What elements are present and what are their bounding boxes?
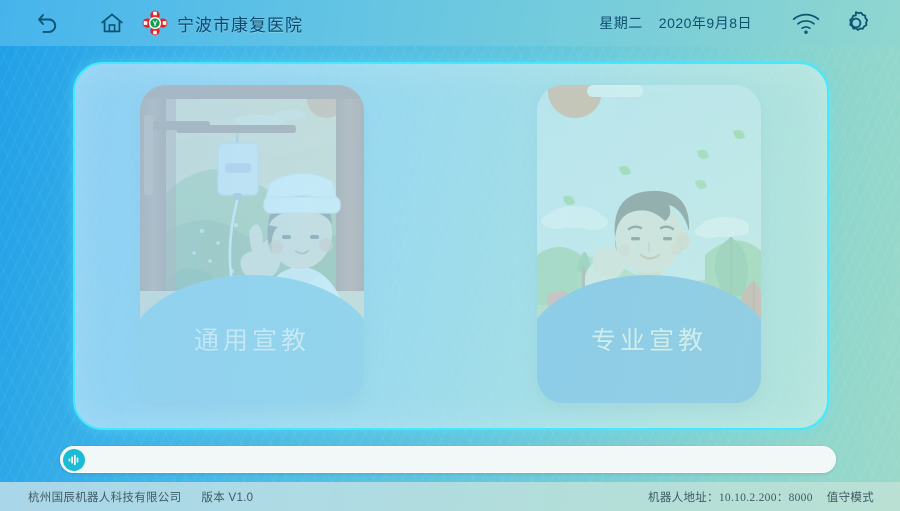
- status-bar-right: 机器人地址：10.10.2.200：8000 值守模式: [648, 489, 900, 505]
- robot-mode: 值守模式: [827, 489, 874, 505]
- hospital-logo-icon: [142, 10, 168, 36]
- settings-button[interactable]: [836, 3, 876, 43]
- voice-waveform-button[interactable]: [63, 449, 85, 471]
- company-name: 杭州国辰机器人科技有限公司: [28, 489, 181, 505]
- header-left-group: 宁波市康复医院: [0, 1, 303, 45]
- hospital-name: 宁波市康复医院: [177, 11, 303, 36]
- gear-icon: [842, 9, 870, 37]
- voice-waveform-icon: [67, 453, 81, 467]
- header-right-group: 星期二 2020年9月8日: [599, 3, 900, 43]
- app-header: 宁波市康复医院 星期二 2020年9月8日: [0, 0, 900, 46]
- app-version: 版本 V1.0: [201, 489, 253, 505]
- wifi-icon: [791, 10, 821, 36]
- back-arrow-icon: [35, 10, 61, 36]
- voice-input-bar[interactable]: [60, 446, 836, 473]
- home-icon: [99, 10, 125, 36]
- current-date: 2020年9月8日: [659, 13, 752, 33]
- day-of-week: 星期二: [599, 13, 643, 33]
- content-panel: [73, 62, 829, 430]
- robot-address-value: 10.10.2.200：8000: [719, 492, 813, 504]
- back-button[interactable]: [26, 1, 70, 45]
- robot-address-group: 机器人地址：10.10.2.200：8000: [648, 489, 813, 505]
- home-button[interactable]: [90, 1, 134, 45]
- status-bar-left: 杭州国辰机器人科技有限公司 版本 V1.0: [0, 489, 253, 505]
- status-bar: 杭州国辰机器人科技有限公司 版本 V1.0 机器人地址：10.10.2.200：…: [0, 482, 900, 511]
- wifi-button[interactable]: [786, 3, 826, 43]
- robot-address-label: 机器人地址：: [648, 492, 719, 504]
- app-screen: 宁波市康复医院 星期二 2020年9月8日: [0, 0, 900, 511]
